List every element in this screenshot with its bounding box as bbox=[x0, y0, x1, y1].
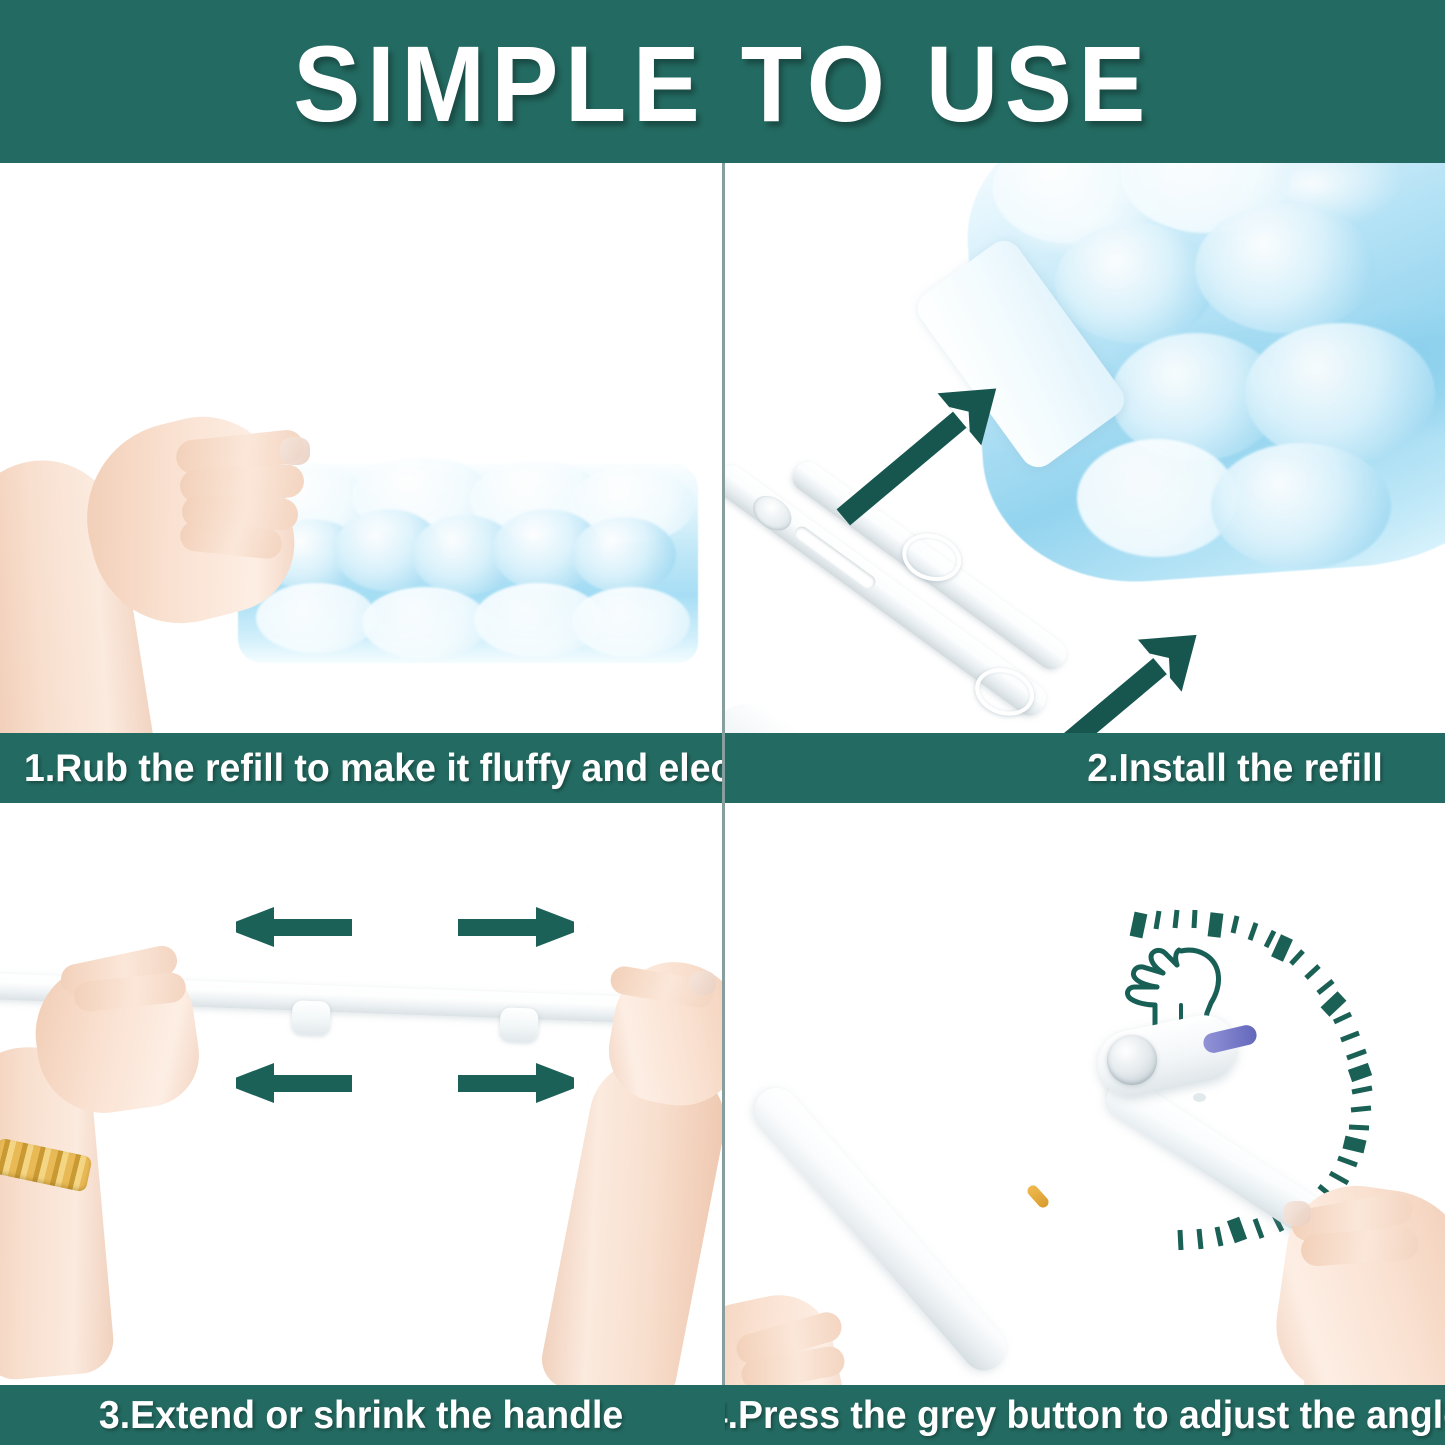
step-2-caption: 2.Install the refill bbox=[1088, 749, 1383, 788]
step-4-illustration bbox=[725, 871, 1445, 1391]
shrink-arrow-left-top bbox=[222, 907, 352, 947]
step-panel-4 bbox=[725, 871, 1445, 1391]
left-fingers bbox=[176, 431, 326, 553]
joint-detail-dot bbox=[1193, 1093, 1206, 1102]
fingernail bbox=[690, 971, 716, 995]
pole-collar bbox=[499, 1007, 538, 1042]
shrink-arrow-left-bottom bbox=[222, 1063, 352, 1103]
refill-puff bbox=[1195, 203, 1375, 333]
step-2-caption-band: 2.Install the refill bbox=[725, 733, 1445, 803]
step-2-illustration bbox=[725, 163, 1445, 803]
fingernail bbox=[1283, 1201, 1311, 1226]
steps-grid: 1.Rub the refill to make it fluffy and e… bbox=[0, 163, 1445, 1445]
step-panel-2 bbox=[725, 163, 1445, 803]
step-panel-1 bbox=[0, 163, 722, 803]
panel-divider-vertical bbox=[722, 163, 725, 1445]
step-panel-3 bbox=[0, 871, 722, 1391]
pole-collar bbox=[291, 1000, 330, 1035]
refill-puff bbox=[1211, 443, 1391, 569]
step-1-caption: 1.Rub the refill to make it fluffy and e… bbox=[24, 749, 722, 788]
header-banner: SIMPLE TO USE bbox=[0, 0, 1445, 163]
refill-puff bbox=[1245, 323, 1435, 463]
step-1-caption-band: 1.Rub the refill to make it fluffy and e… bbox=[0, 733, 722, 803]
refill-puff bbox=[572, 587, 690, 657]
refill-puff bbox=[1055, 223, 1215, 343]
step-3-caption: 3.Extend or shrink the handle bbox=[99, 1396, 623, 1435]
step-1-illustration bbox=[0, 163, 722, 803]
page-title: SIMPLE TO USE bbox=[293, 30, 1152, 138]
step-3-illustration bbox=[0, 871, 722, 1391]
step-4-caption: 4.Press the grey button to adjust the an… bbox=[725, 1396, 1445, 1435]
extend-arrow-right-bottom bbox=[458, 1063, 588, 1103]
step-3-caption-band: 3.Extend or shrink the handle bbox=[0, 1385, 722, 1445]
refill-puff bbox=[362, 587, 488, 659]
fingernail bbox=[280, 437, 310, 465]
refill-puff bbox=[572, 517, 676, 593]
step-4-caption-band: 4.Press the grey button to adjust the an… bbox=[725, 1385, 1445, 1445]
infographic-root: SIMPLE TO USE bbox=[0, 0, 1445, 1445]
refill-puff bbox=[256, 583, 376, 653]
grey-release-button[interactable] bbox=[1107, 1035, 1157, 1085]
extend-arrow-right-top bbox=[458, 907, 588, 947]
